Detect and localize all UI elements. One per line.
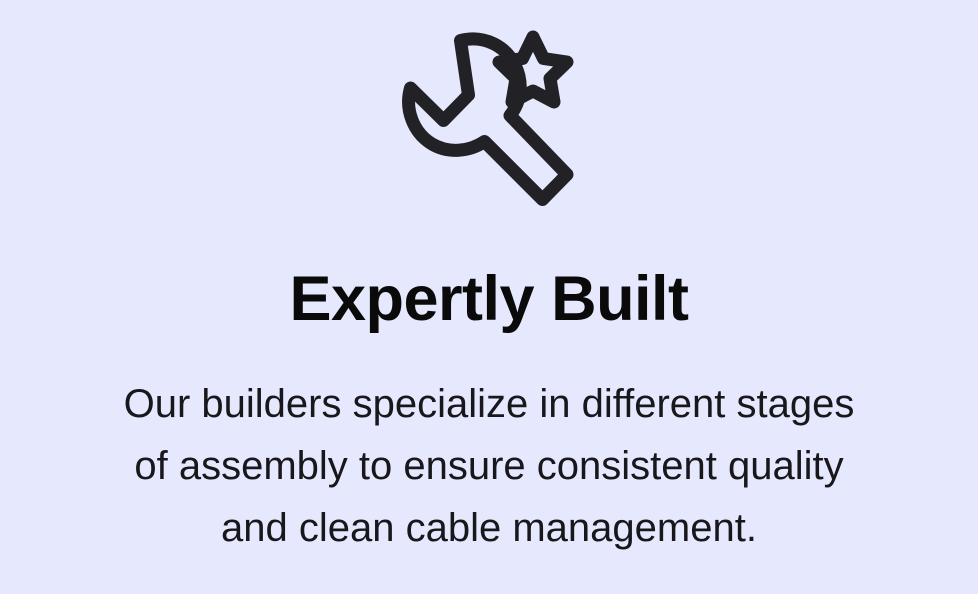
page-title: Expertly Built [289, 268, 688, 331]
description-line: of assembly to ensure consistent quality [39, 435, 939, 497]
wrench-star-icon [389, 28, 589, 228]
description-line: and clean cable management. [39, 497, 939, 559]
feature-card: Expertly Built Our builders specialize i… [0, 0, 978, 594]
description-line: Our builders specialize in different sta… [39, 373, 939, 435]
card-description: Our builders specialize in different sta… [39, 373, 939, 559]
